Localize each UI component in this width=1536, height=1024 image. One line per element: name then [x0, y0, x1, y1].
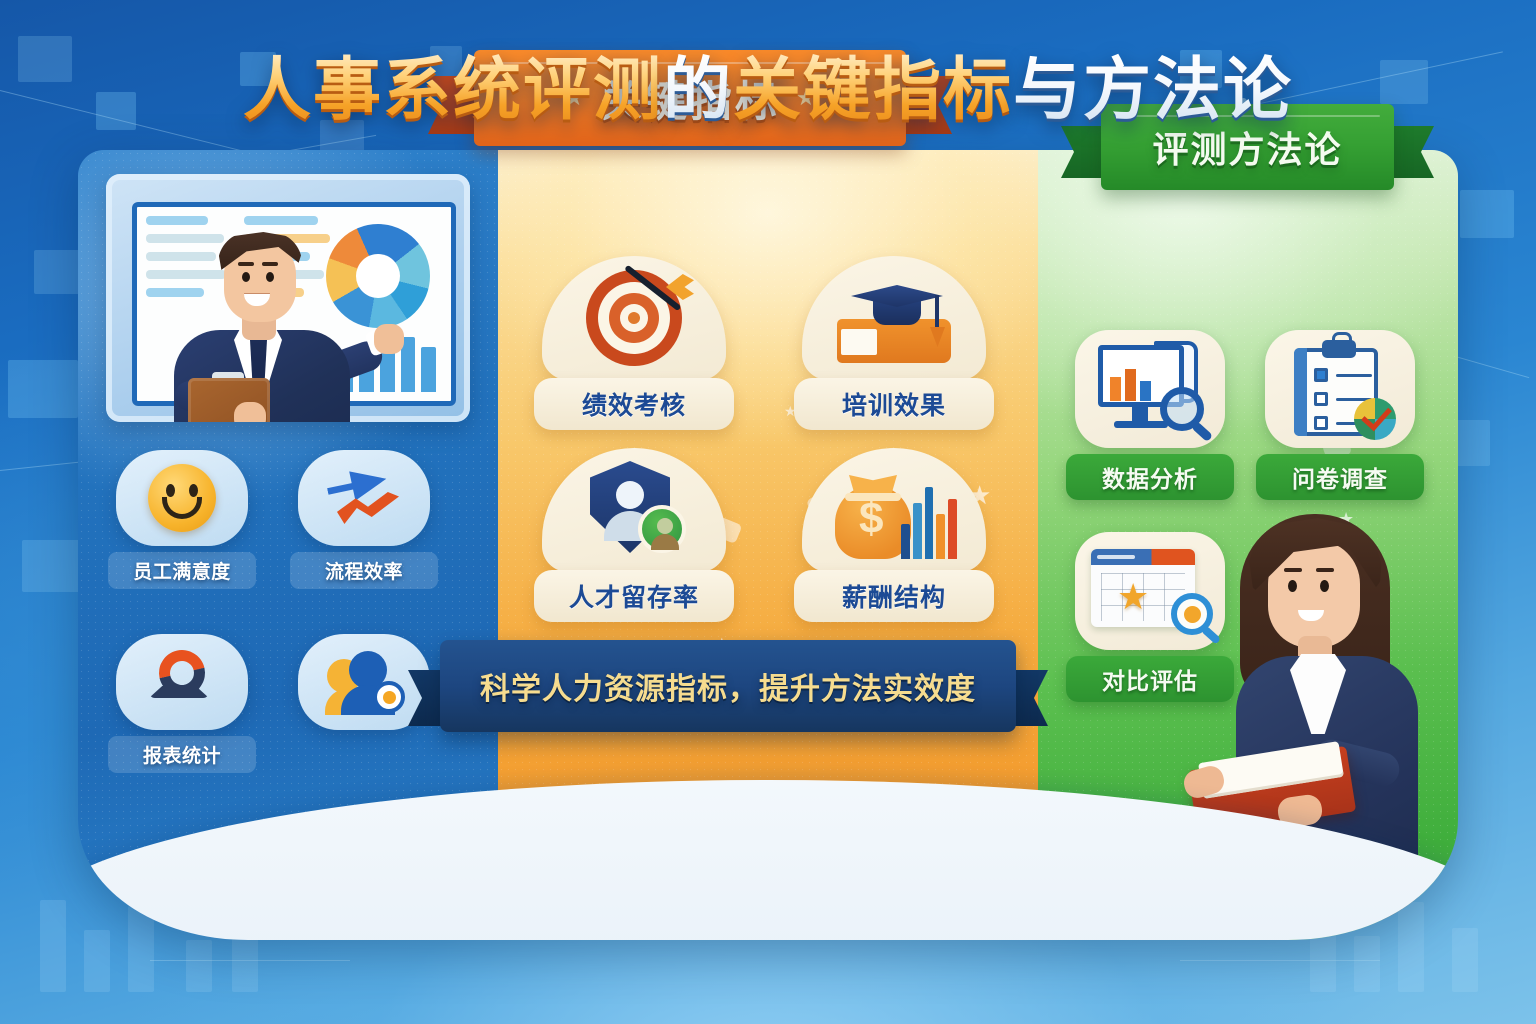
magnifier-lifebuoy-icon — [116, 634, 248, 730]
monitor-chart-magnifier-icon — [1075, 330, 1225, 448]
right-card-label-0: 数据分析 — [1066, 454, 1234, 500]
title-segment-1: 人事系统评测 — [243, 34, 663, 133]
left-feature-0[interactable]: 员工满意度 — [108, 450, 256, 589]
center-card-label-0: 绩效考核 — [534, 378, 734, 430]
clipboard-checklist-icon — [1265, 330, 1415, 448]
right-card-0[interactable]: 数据分析 — [1066, 330, 1234, 500]
target-dart-icon — [542, 256, 726, 380]
left-feature-label-2: 报表统计 — [108, 736, 256, 773]
right-card-label-1: 问卷调查 — [1256, 454, 1424, 500]
left-feature-label-1: 流程效率 — [290, 552, 438, 589]
center-bottom-banner-text: 科学人力资源指标，提升方法实效度 — [480, 664, 976, 708]
right-card-1[interactable]: 问卷调查 — [1256, 330, 1424, 500]
infographic-stage: 员工满意度 流程效率 报表统计 — [78, 150, 1458, 940]
left-feature-label-0: 员工满意度 — [108, 552, 256, 589]
left-feature-1[interactable]: 流程效率 — [290, 450, 438, 589]
money-bag-chart-icon: $ — [802, 448, 986, 572]
left-feature-3[interactable] — [290, 634, 438, 746]
user-search-icon — [298, 634, 430, 730]
left-feature-2[interactable]: 报表统计 — [108, 634, 256, 773]
center-card-2[interactable]: 人才留存率 — [534, 448, 734, 622]
graduation-cap-book-icon — [802, 256, 986, 380]
trend-arrows-icon — [298, 450, 430, 546]
presenter-dashboard-illustration — [106, 174, 470, 422]
center-card-1[interactable]: 培训效果 — [794, 256, 994, 430]
title-segment-2: 的 — [663, 34, 733, 133]
smiley-face-icon — [116, 450, 248, 546]
center-card-0[interactable]: 绩效考核 — [534, 256, 734, 430]
center-bottom-banner: 科学人力资源指标，提升方法实效度 — [418, 640, 1038, 732]
title-segment-4: 与 — [1013, 34, 1083, 133]
center-card-3[interactable]: $ 薪酬结构 — [794, 448, 994, 622]
shield-people-icon — [542, 448, 726, 572]
center-card-label-2: 人才留存率 — [534, 570, 734, 622]
title-segment-3: 关键指标 — [733, 34, 1013, 133]
title-segment-5: 方法论 — [1083, 34, 1293, 133]
businessman-figure — [162, 212, 370, 422]
window-grid-star-magnifier-icon: ★ — [1075, 532, 1225, 650]
center-card-label-1: 培训效果 — [794, 378, 994, 430]
center-card-label-3: 薪酬结构 — [794, 570, 994, 622]
page-title: 人事系统评测的关键指标与方法论 — [0, 34, 1536, 133]
